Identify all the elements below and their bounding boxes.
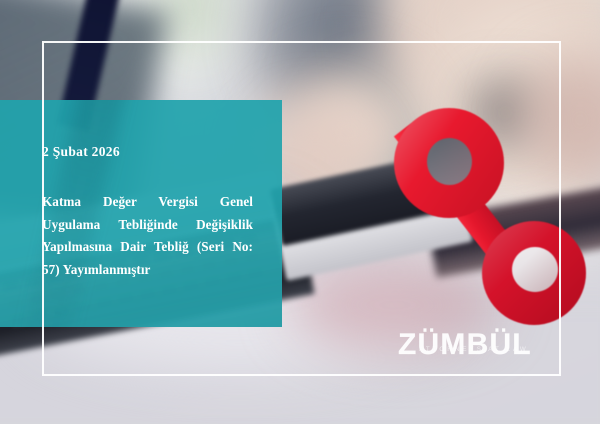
logo-tagline: ATTORNEYS AT LAW (401, 346, 547, 353)
social-post-card: 2 Şubat 2026 Katma Değer Vergisi Genel U… (0, 0, 600, 424)
percent-upper-ring-shading (394, 108, 504, 218)
percent-sign-icon (372, 108, 582, 323)
percent-lower-ring-shading (482, 221, 586, 325)
publication-date: 2 Şubat 2026 (42, 144, 252, 160)
teal-content-panel: 2 Şubat 2026 Katma Değer Vergisi Genel U… (0, 100, 282, 327)
logo-wordmark: ZÜMBÜL (398, 330, 550, 360)
brand-logo: ZÜMBÜL ATTORNEYS AT LAW (398, 330, 550, 370)
headline-text: Katma Değer Vergisi Genel Uygulama Tebli… (42, 191, 253, 282)
